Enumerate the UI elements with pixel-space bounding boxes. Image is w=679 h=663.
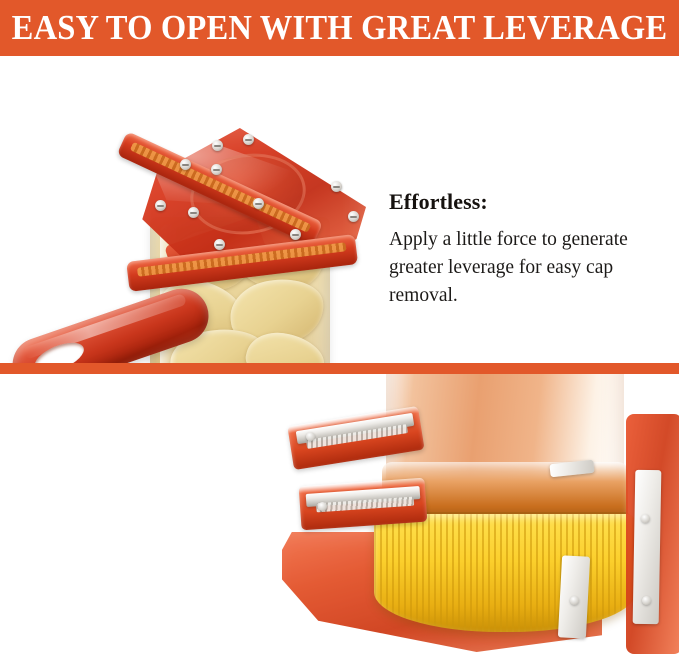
feature-section-effortless: Effortless: Apply a little force to gene… xyxy=(0,56,679,363)
screw-icon xyxy=(212,140,223,151)
screw-icon xyxy=(348,211,359,222)
screw-icon xyxy=(155,200,166,211)
screw-icon xyxy=(180,159,191,170)
product-feature-infographic: EASY TO OPEN WITH GREAT LEVERAGE xyxy=(0,0,679,663)
screw-icon xyxy=(306,432,315,441)
screw-icon xyxy=(641,514,650,523)
screw-icon xyxy=(290,229,301,240)
screw-icon xyxy=(188,207,199,218)
banner-title: EASY TO OPEN WITH GREAT LEVERAGE xyxy=(12,10,668,46)
screw-icon xyxy=(331,181,342,192)
screw-icon xyxy=(570,596,579,605)
photo-jaws-gripping-cap xyxy=(282,374,679,663)
screw-icon xyxy=(214,239,225,250)
section-divider xyxy=(0,363,679,374)
feature-text-effortless: Effortless: Apply a little force to gene… xyxy=(389,189,674,310)
header-banner: EASY TO OPEN WITH GREAT LEVERAGE xyxy=(0,0,679,56)
screw-icon xyxy=(318,502,327,511)
screw-icon xyxy=(211,164,222,175)
screw-icon xyxy=(243,134,254,145)
screw-icon xyxy=(253,198,264,209)
feature-body: Apply a little force to generate greater… xyxy=(389,226,674,310)
yellow-jar-cap xyxy=(374,514,636,632)
feature-heading: Effortless: xyxy=(389,189,674,215)
screw-icon xyxy=(642,596,651,605)
